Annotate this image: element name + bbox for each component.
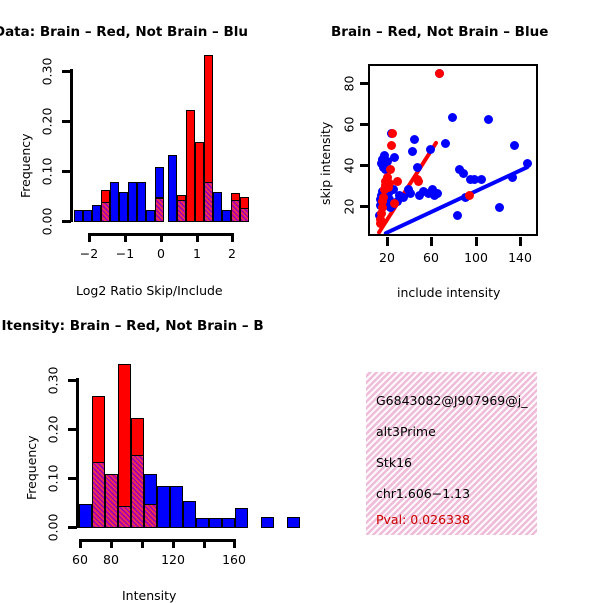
ratio-x-ticklabel-3: 1 xyxy=(182,246,212,261)
scatter-point-blue xyxy=(448,113,457,122)
intensity-bar-blue xyxy=(261,517,274,528)
ratio-bar-blue xyxy=(74,210,83,223)
ratio-bar-blue xyxy=(213,192,222,222)
scatter-y-tick-60 xyxy=(360,123,369,126)
ratio-bar-blue xyxy=(119,192,128,222)
scatter-x-axis-label: include intensity xyxy=(397,285,500,300)
ratio-bar-blue xyxy=(110,182,119,222)
scatter-point-blue xyxy=(523,159,532,168)
intensity-y-ticklabel-3: 0.30 xyxy=(46,365,61,397)
scatter-x-ticklabel-0: 20 xyxy=(372,250,402,265)
intensity-x-ticklabel-2: 120 xyxy=(158,552,188,567)
ratio-x-tick--1 xyxy=(124,233,127,242)
scatter-point-red xyxy=(390,199,399,208)
intensity-x-ticklabel-3: 160 xyxy=(219,552,249,567)
scatter-point-blue xyxy=(477,175,486,184)
intensity-bar-purple xyxy=(118,506,131,528)
ratio-bar-blue xyxy=(146,210,155,223)
scatter-point-blue xyxy=(510,141,519,150)
ratio-bar-purple xyxy=(204,182,213,222)
ratio-title-clip: RatioData: Brain – Red, Not Brain – Blu xyxy=(0,24,300,46)
ratio-y-ticklabel-3: 0.30 xyxy=(40,56,55,88)
scatter-y-axis-label: skip intensity xyxy=(318,122,333,205)
ratio-x-tick-0 xyxy=(160,233,163,242)
gene-info-box: G6843082@J907969@j_ alt3Prime Stk16 chr1… xyxy=(366,372,537,535)
scatter-point-blue xyxy=(453,211,462,220)
scatter-y-tick-20 xyxy=(360,205,369,208)
scatter-y-ticklabel-2: 60 xyxy=(342,113,357,137)
ratio-histogram-title: RatioData: Brain – Red, Not Brain – Blu xyxy=(0,24,248,40)
ratio-x-ticklabel-4: 2 xyxy=(217,246,247,261)
intensity-y-tick-0.00 xyxy=(68,526,77,529)
ratio-bar-purple xyxy=(155,198,164,222)
scatter-y-ticklabel-0: 20 xyxy=(342,195,357,219)
panel-gene-info: G6843082@J907969@j_ alt3Prime Stk16 chr1… xyxy=(300,300,600,600)
intensity-bar-purple xyxy=(105,474,118,528)
panel-intensity-scatter: Brain – Red, Not Brain – Blue skip inten… xyxy=(300,0,600,300)
pval-line: Pval: 0.026338 xyxy=(376,512,470,527)
intensity-bar-blue xyxy=(235,508,248,528)
scatter-point-blue xyxy=(426,145,435,154)
ratio-bar-blue xyxy=(137,182,146,222)
scatter-point-red xyxy=(465,191,474,200)
intensity-x-tick-160 xyxy=(233,539,236,548)
intensity-y-axis-label: Frequency xyxy=(24,435,39,500)
scatter-y-tick-40 xyxy=(360,164,369,167)
ratio-x-tick-1 xyxy=(196,233,199,242)
scatter-x-ticklabel-1: 60 xyxy=(416,250,446,265)
intensity-bar-blue xyxy=(157,486,170,528)
scatter-point-blue xyxy=(413,163,422,172)
scatter-point-red xyxy=(414,177,423,186)
event-type-line: alt3Prime xyxy=(376,424,436,439)
ratio-bar-blue xyxy=(222,210,231,223)
scatter-point-blue xyxy=(441,139,450,148)
scatter-point-red xyxy=(435,69,444,78)
gene-info-text-clip: G6843082@J907969@j_ alt3Prime Stk16 chr1… xyxy=(366,372,537,535)
intensity-histogram-title: ne Itensity: Brain – Red, Not Brain – B xyxy=(0,318,264,334)
intensity-title-clip: ne Itensity: Brain – Red, Not Brain – B xyxy=(0,318,300,342)
intensity-y-ticklabel-2: 0.20 xyxy=(46,414,61,446)
ratio-bar-red xyxy=(186,110,195,223)
panel-ratio-histogram: RatioData: Brain – Red, Not Brain – Blu … xyxy=(0,0,300,300)
scatter-point-blue xyxy=(433,189,442,198)
ratio-y-tick-0.00 xyxy=(62,220,71,223)
scatter-point-blue xyxy=(390,153,399,162)
intensity-y-tick-0.20 xyxy=(68,428,77,431)
ratio-bar-blue xyxy=(168,155,177,223)
intensity-bar-purple xyxy=(131,455,144,529)
ratio-bar-blue xyxy=(128,182,137,222)
intensity-y-tick-0.30 xyxy=(68,379,77,382)
scatter-x-tick-100 xyxy=(475,237,478,246)
scatter-x-ticklabel-2: 100 xyxy=(461,250,491,265)
scatter-data-area xyxy=(370,66,536,234)
ratio-y-axis-line xyxy=(70,69,73,222)
intensity-x-axis-label: Intensity xyxy=(122,588,176,603)
gene-id-line: G6843082@J907969@j_ xyxy=(376,393,527,408)
ratio-y-ticklabel-1: 0.10 xyxy=(40,156,55,188)
intensity-y-ticklabel-0: 0.00 xyxy=(46,512,61,544)
intensity-bar-blue xyxy=(170,486,183,528)
scatter-point-blue xyxy=(495,203,504,212)
ratio-bar-blue xyxy=(83,210,92,223)
intensity-bar-red xyxy=(118,364,131,528)
ratio-x-axis-label: Log2 Ratio Skip/Include xyxy=(76,283,223,298)
intensity-bar-purple xyxy=(92,462,105,528)
ratio-y-ticklabel-2: 0.20 xyxy=(40,106,55,138)
intensity-bar-blue xyxy=(183,501,196,528)
intensity-x-ticklabel-0: 60 xyxy=(65,552,95,567)
ratio-x-ticklabel-1: −1 xyxy=(110,246,140,261)
scatter-point-red xyxy=(393,177,402,186)
scatter-y-ticklabel-1: 40 xyxy=(342,154,357,178)
panel-intensity-histogram: ne Itensity: Brain – Red, Not Brain – B … xyxy=(0,300,300,600)
intensity-x-tick-140 xyxy=(203,539,206,548)
ratio-x-ticklabel-0: −2 xyxy=(74,246,104,261)
scatter-y-tick-80 xyxy=(360,82,369,85)
intensity-x-axis-line xyxy=(79,539,234,542)
scatter-x-tick-60 xyxy=(430,237,433,246)
scatter-point-red xyxy=(387,141,396,150)
scatter-point-blue xyxy=(408,147,417,156)
ratio-x-tick-2 xyxy=(231,233,234,242)
scatter-point-red xyxy=(386,165,395,174)
scatter-point-blue xyxy=(508,173,517,182)
intensity-bar-blue xyxy=(209,518,222,528)
ratio-y-tick-0.10 xyxy=(62,170,71,173)
intensity-x-tick-100 xyxy=(141,539,144,548)
scatter-point-red xyxy=(388,129,397,138)
intensity-x-tick-80 xyxy=(110,539,113,548)
scatter-y-ticklabel-3: 80 xyxy=(342,72,357,96)
ratio-bar-purple xyxy=(101,202,110,222)
intensity-y-tick-0.10 xyxy=(68,477,77,480)
intensity-bar-blue xyxy=(222,518,235,528)
scatter-point-blue xyxy=(484,115,493,124)
ratio-bar-red xyxy=(195,142,204,222)
scatter-title: Brain – Red, Not Brain – Blue xyxy=(331,24,548,40)
ratio-bar-purple xyxy=(231,200,240,223)
ratio-y-axis-label: Frequency xyxy=(18,133,33,198)
scatter-point-blue xyxy=(410,135,419,144)
ratio-x-ticklabel-2: 0 xyxy=(146,246,176,261)
intensity-bar-blue xyxy=(79,504,92,529)
intensity-x-tick-120 xyxy=(172,539,175,548)
ratio-bar-purple xyxy=(240,208,249,222)
ratio-y-tick-0.30 xyxy=(62,70,71,73)
intensity-bar-blue xyxy=(196,518,209,528)
intensity-y-ticklabel-1: 0.10 xyxy=(46,463,61,495)
scatter-x-tick-20 xyxy=(386,237,389,246)
intensity-bar-blue xyxy=(287,517,300,528)
intensity-x-ticklabel-1: 80 xyxy=(96,552,126,567)
ratio-x-tick--2 xyxy=(88,233,91,242)
ratio-y-ticklabel-0: 0.00 xyxy=(40,206,55,238)
intensity-bar-purple xyxy=(144,504,157,529)
ratio-bar-blue xyxy=(92,205,101,223)
ratio-bar-purple xyxy=(177,200,186,223)
gene-symbol-line: Stk16 xyxy=(376,455,412,470)
ratio-y-tick-0.20 xyxy=(62,120,71,123)
scatter-x-tick-140 xyxy=(519,237,522,246)
figure-canvas: RatioData: Brain – Red, Not Brain – Blu … xyxy=(0,0,600,600)
locus-line: chr1.606−1.13 xyxy=(376,486,470,501)
scatter-point-blue xyxy=(406,189,415,198)
intensity-x-tick-60 xyxy=(79,539,82,548)
scatter-x-ticklabel-3: 140 xyxy=(505,250,535,265)
